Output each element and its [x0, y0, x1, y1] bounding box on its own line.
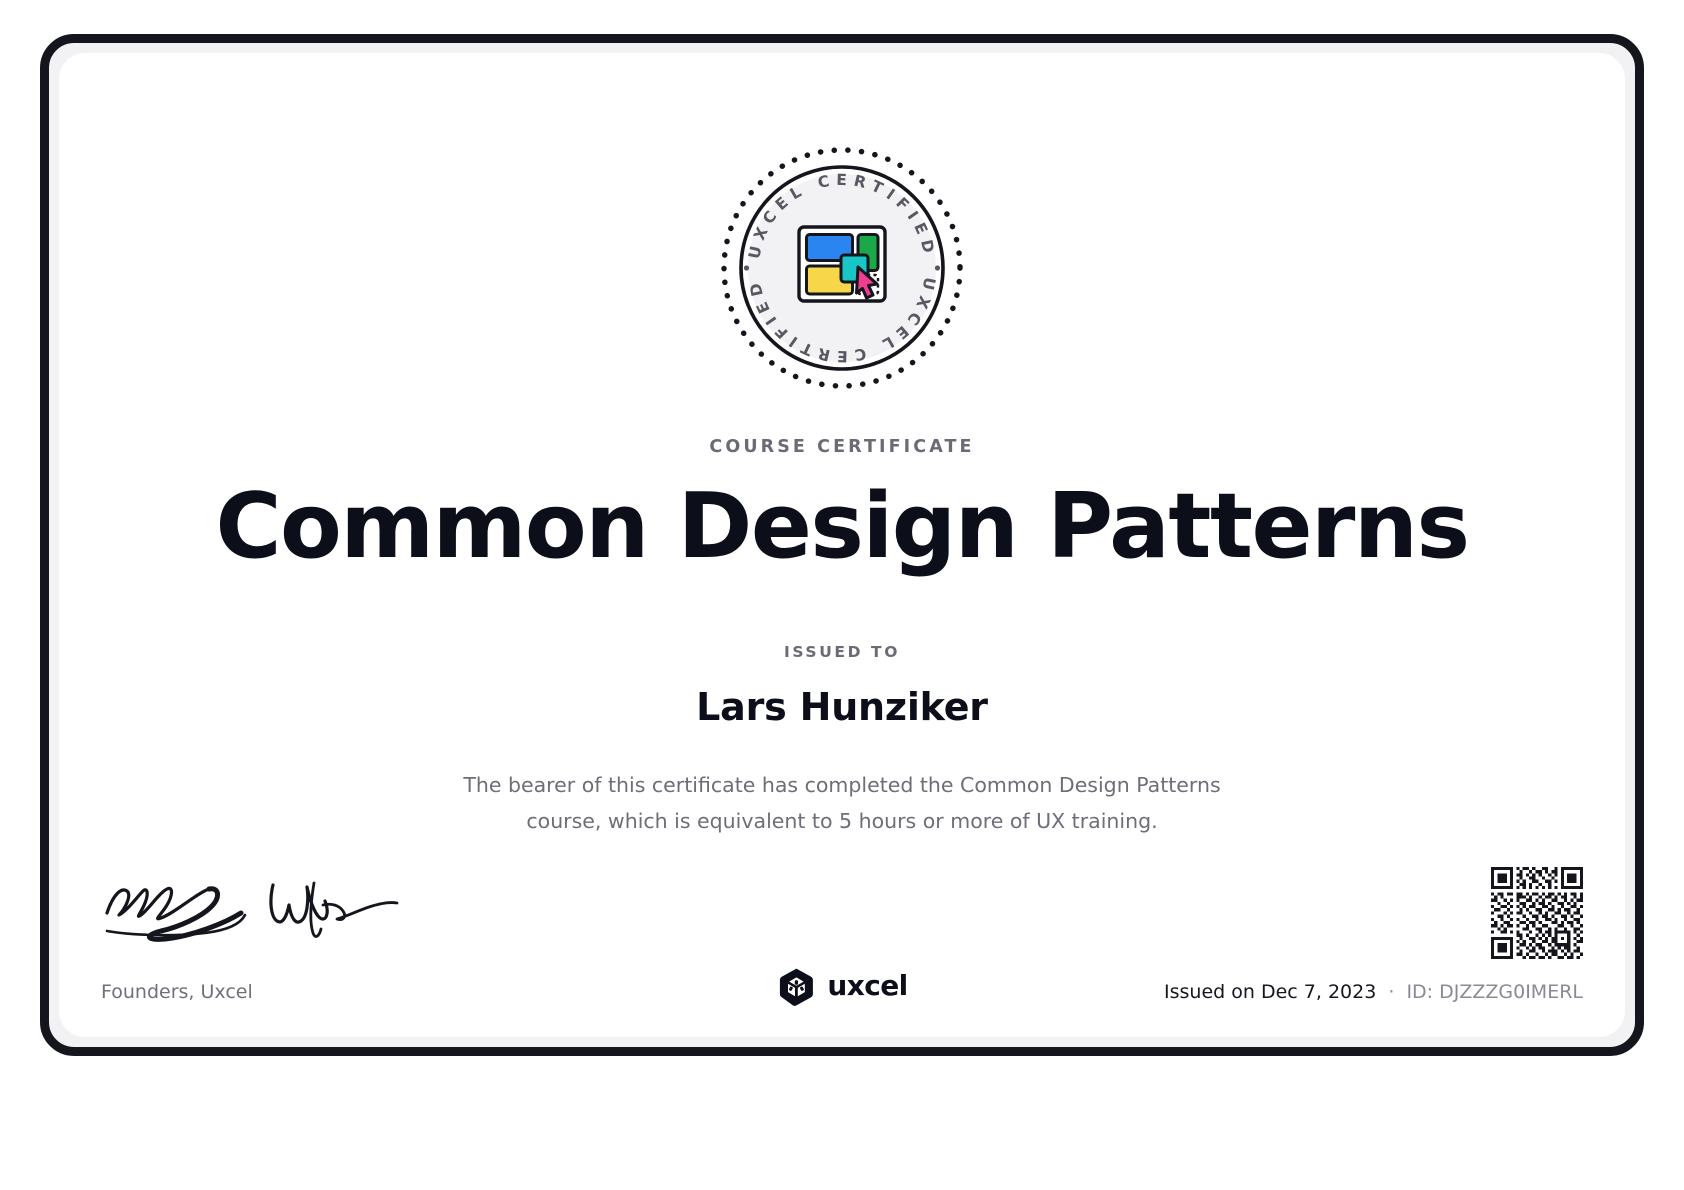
certificate-card: UXCEL CERTIFIED UXCEL CERTIFIED [59, 53, 1625, 1037]
certificate-id: ID: DJZZZG0IMERL [1406, 981, 1583, 1003]
meta-separator: · [1388, 981, 1394, 1003]
verification-qr-code[interactable] [1491, 867, 1583, 959]
founder-signatures [101, 875, 401, 965]
signature-caption: Founders, Uxcel [101, 981, 253, 1003]
uxcel-wordmark: uxcel [827, 972, 907, 1002]
recipient-name: Lars Hunziker [59, 685, 1625, 729]
seal-separator-dot-right [935, 265, 940, 270]
layout-cursor-icon [799, 227, 885, 301]
issued-to-label: ISSUED TO [59, 643, 1625, 661]
issue-metadata: Issued on Dec 7, 2023 · ID: DJZZZG0IMERL [1164, 981, 1583, 1003]
seal-separator-dot-left [744, 265, 749, 270]
uxcel-certified-seal: UXCEL CERTIFIED UXCEL CERTIFIED [717, 143, 967, 393]
certificate-footer: Founders, Uxcel uxcel [59, 817, 1625, 1037]
uxcel-cube-logo [776, 967, 816, 1007]
eyebrow-label: COURSE CERTIFICATE [59, 437, 1625, 457]
certificate-frame: UXCEL CERTIFIED UXCEL CERTIFIED [40, 34, 1644, 1056]
uxcel-brand-logo: uxcel [776, 967, 907, 1007]
course-title: Common Design Patterns [59, 478, 1625, 575]
issued-on-date: Issued on Dec 7, 2023 [1164, 981, 1376, 1003]
